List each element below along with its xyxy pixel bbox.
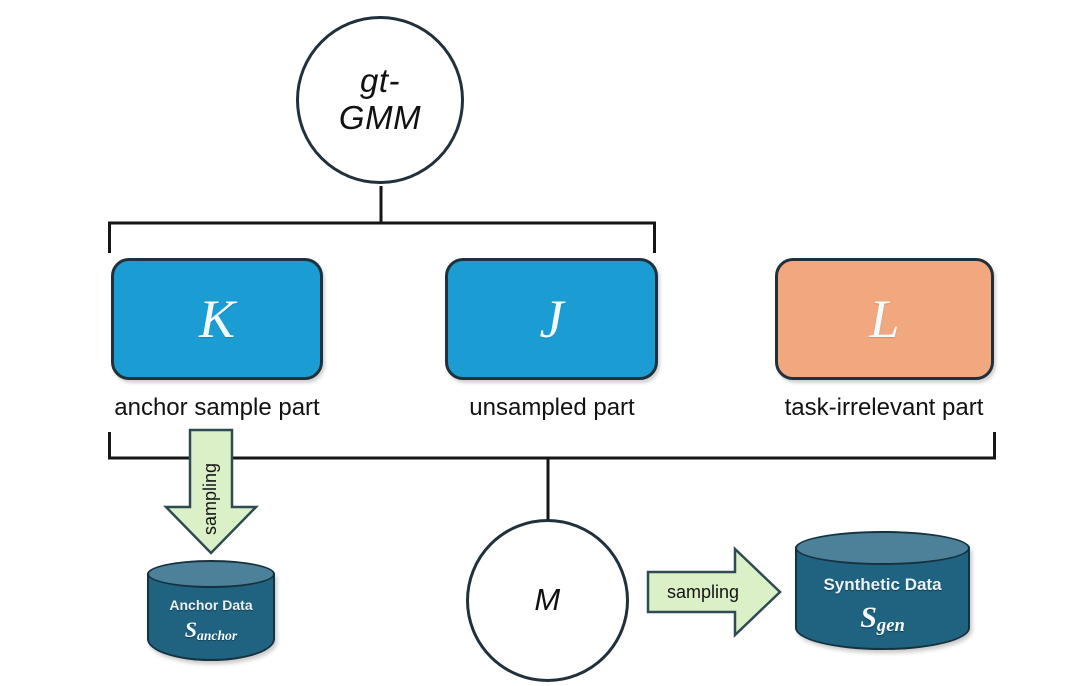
sampling-label-horizontal: sampling xyxy=(654,583,752,601)
datastore-synthetic-data[interactable]: Synthetic Data Sgen xyxy=(795,531,970,654)
node-m-label: M xyxy=(534,583,560,618)
diagram-canvas: gt- GMM K J L anchor sample part unsampl… xyxy=(0,0,1080,686)
node-m[interactable]: M xyxy=(466,519,629,682)
datastore-anchor-data[interactable]: Anchor Data Sanchor xyxy=(147,560,275,664)
datastore-synthetic-data-top xyxy=(795,531,970,565)
datastore-anchor-data-top xyxy=(147,560,275,588)
sampling-label-vertical: sampling xyxy=(201,451,221,547)
